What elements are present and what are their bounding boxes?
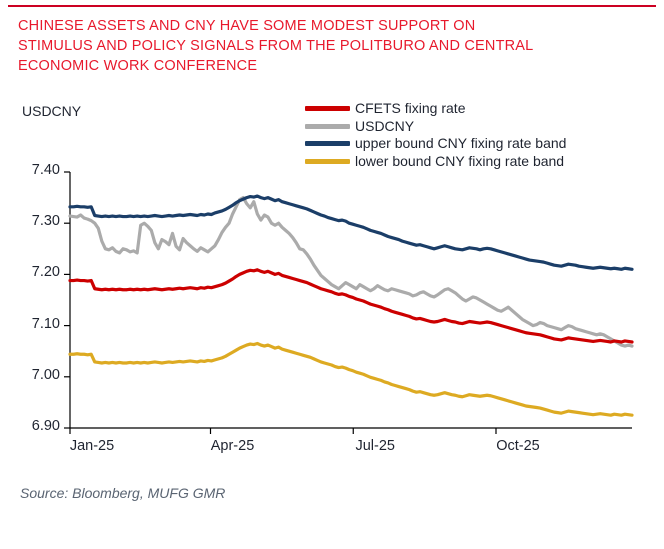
y-tick-label: 7.40 [14,162,60,178]
source-note: Source: Bloomberg, MUFG GMR [20,485,225,501]
series-line [70,344,632,416]
series-line [70,198,632,346]
x-tick-label: Apr-25 [193,438,273,454]
x-tick-label: Jan-25 [52,438,132,454]
chart-plot [0,0,664,549]
series-line [70,196,632,269]
y-tick-label: 7.00 [14,367,60,383]
y-tick-label: 6.90 [14,418,60,434]
y-tick-label: 7.10 [14,316,60,332]
y-tick-label: 7.20 [14,264,60,280]
x-tick-label: Oct-25 [478,438,558,454]
x-tick-label: Jul-25 [335,438,415,454]
y-tick-label: 7.30 [14,213,60,229]
series-line [70,270,632,342]
